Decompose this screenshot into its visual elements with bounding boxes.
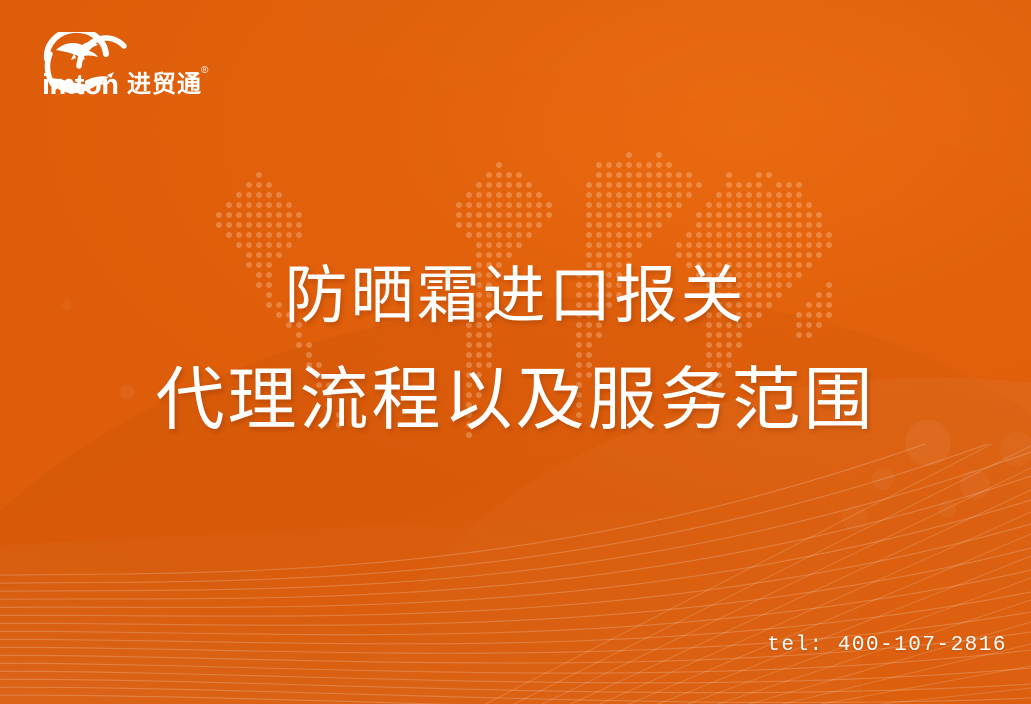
logo-wordmark: imton bbox=[42, 69, 118, 101]
eagle-icon bbox=[56, 42, 98, 61]
brand-logo[interactable]: imton 进贸通 ® bbox=[38, 32, 218, 102]
headline-block: 防晒霜进口报关 代理流程以及服务范围 bbox=[0, 258, 1031, 442]
poster-canvas: imton 进贸通 ® 防晒霜进口报关 代理流程以及服务范围 tel: 400-… bbox=[0, 0, 1031, 704]
headline-line-1: 防晒霜进口报关 bbox=[0, 258, 1031, 334]
logo-chinese-name: 进贸通 bbox=[127, 71, 202, 98]
headline-line-2: 代理流程以及服务范围 bbox=[0, 358, 1031, 442]
registered-trademark-icon: ® bbox=[201, 65, 209, 76]
contact-telephone: tel: 400-107-2816 bbox=[767, 634, 1007, 657]
